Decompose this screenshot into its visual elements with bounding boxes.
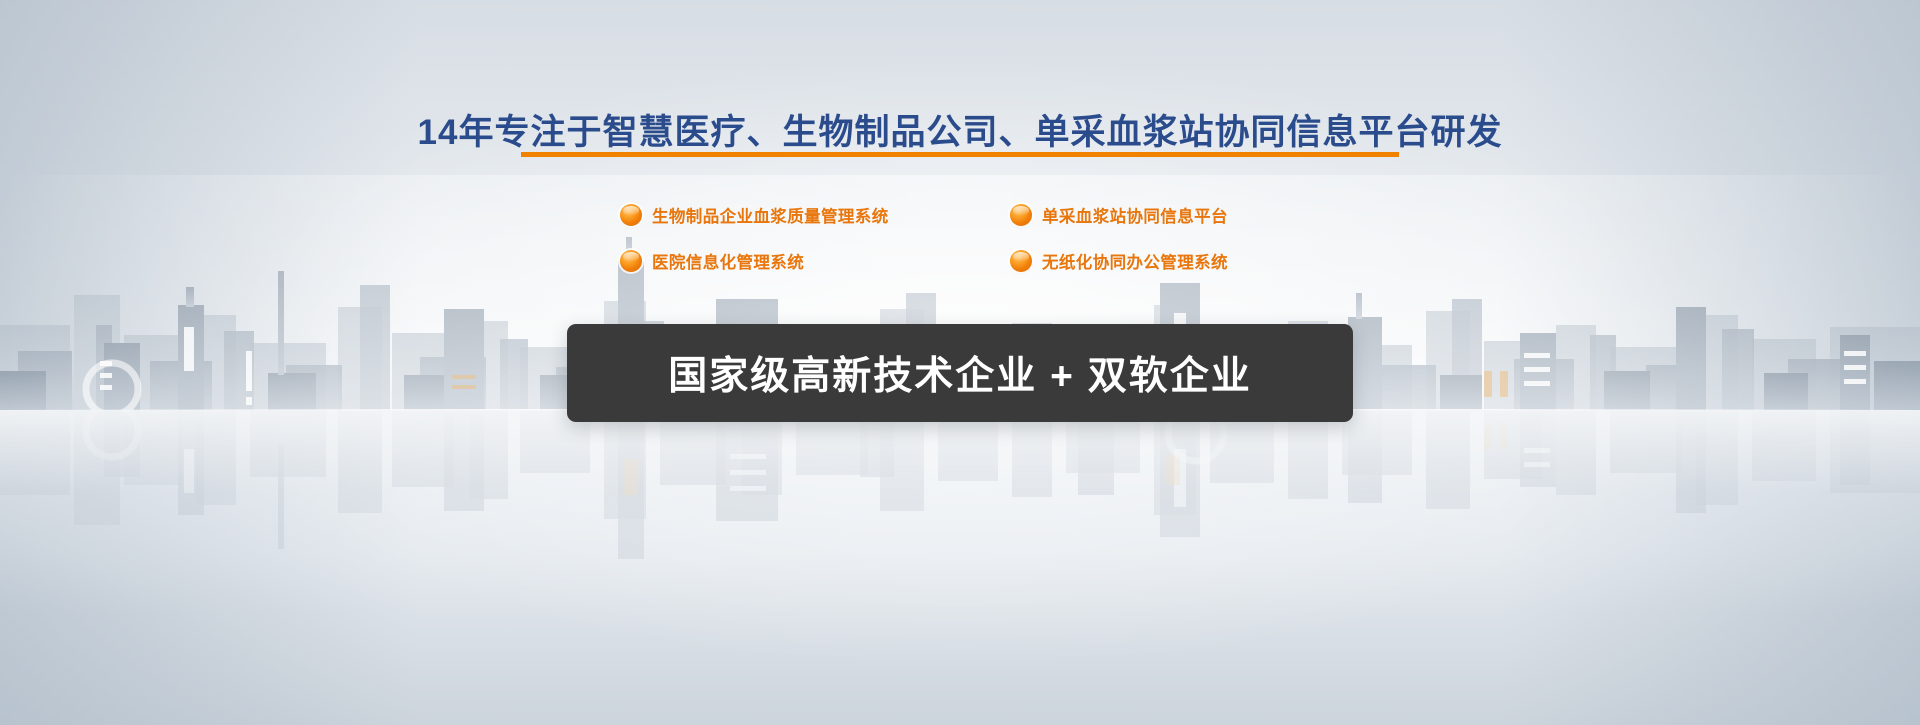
feature-item-paperless-office[interactable]: 无纸化协同办公管理系统: [1010, 249, 1300, 273]
feature-label: 医院信息化管理系统: [652, 249, 804, 273]
feature-item-plasma-station-platform[interactable]: 单采血浆站协同信息平台: [1010, 203, 1300, 227]
hero-banner: 14年专注于智慧医疗、生物制品公司、单采血浆站协同信息平台研发 生物制品企业血浆…: [0, 0, 1920, 725]
credential-badge-text: 国家级高新技术企业 + 双软企业: [668, 345, 1251, 401]
orange-dot-icon: [1010, 250, 1032, 272]
feature-item-plasma-quality[interactable]: 生物制品企业血浆质量管理系统: [620, 203, 1010, 227]
feature-list: 生物制品企业血浆质量管理系统 单采血浆站协同信息平台 医院信息化管理系统 无纸化…: [620, 192, 1300, 284]
city-reflection-svg: [0, 410, 1920, 645]
feature-item-hospital-informatization[interactable]: 医院信息化管理系统: [620, 249, 1010, 273]
page-title: 14年专注于智慧医疗、生物制品公司、单采血浆站协同信息平台研发: [0, 104, 1920, 155]
orange-dot-icon: [620, 204, 642, 226]
feature-label: 生物制品企业血浆质量管理系统: [652, 203, 889, 227]
feature-label: 单采血浆站协同信息平台: [1042, 203, 1228, 227]
title-underline-rule: [521, 152, 1399, 157]
orange-dot-icon: [1010, 204, 1032, 226]
feature-label: 无纸化协同办公管理系统: [1042, 249, 1228, 273]
credential-badge: 国家级高新技术企业 + 双软企业: [567, 324, 1353, 422]
orange-dot-icon: [620, 250, 642, 272]
skyline-reflection: [0, 410, 1920, 645]
